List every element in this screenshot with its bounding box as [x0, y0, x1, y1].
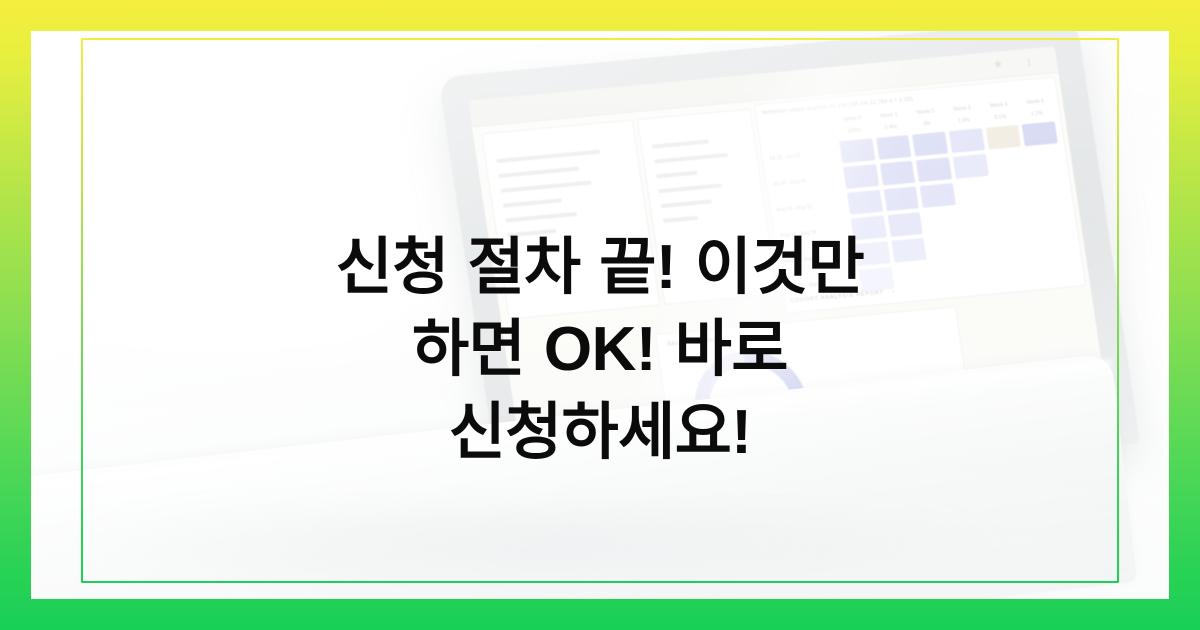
cohort-heatmap-cell	[1005, 253, 1041, 278]
cohort-heatmap-cell	[883, 186, 919, 211]
cohort-column-percent: 3%	[911, 120, 944, 129]
cohort-column-percent: 1.2%	[1020, 110, 1053, 119]
dashboard-panel-middle	[637, 109, 778, 305]
cohort-heatmap-cell	[851, 216, 887, 241]
cohort-analysis-panel: Retention cohort analysis 12,104 108.1% …	[754, 76, 1087, 314]
cohort-column-header: Week 5	[1019, 98, 1052, 107]
cohort-heatmap-cell	[960, 205, 996, 230]
cohort-heatmap-cell	[843, 164, 879, 189]
dashboard-panel-left	[481, 119, 660, 319]
cohort-heatmap-cell	[895, 264, 931, 289]
cohort-heatmap-cell	[1034, 199, 1070, 224]
placeholder-row	[498, 167, 579, 178]
cohort-column-header: Week 3	[945, 104, 978, 113]
cohort-column-header: Week 2	[909, 108, 942, 117]
star-icon	[993, 59, 1003, 69]
cohort-heatmap-cell	[997, 202, 1033, 227]
placeholder-row	[660, 199, 711, 208]
cohort-column-percent: 100%	[837, 127, 870, 136]
cohort-heatmap-cell	[855, 241, 891, 266]
cohort-heatmap-cell	[964, 231, 1000, 256]
cohort-heatmap-cell	[839, 138, 875, 163]
cohort-heatmap-cell	[876, 135, 912, 160]
cohort-heatmap-cell	[847, 190, 883, 215]
cohort-column-percent: 0.1%	[984, 113, 1017, 122]
cohort-heatmap-cell	[912, 132, 948, 157]
promo-banner: Retention cohort analysis 12,104 108.1% …	[0, 0, 1200, 630]
cohort-heatmap-cell	[968, 257, 1004, 282]
placeholder-row	[658, 183, 723, 193]
panel-middle-rows	[652, 136, 757, 234]
cohort-heatmap-cell	[880, 161, 916, 186]
placeholder-row	[652, 140, 709, 149]
laptop-shadow	[31, 509, 1091, 599]
cohort-heatmap-cell	[957, 180, 993, 205]
panel-left-rows	[496, 147, 639, 248]
cohort-heatmap-cell	[1041, 250, 1077, 275]
cohort-heatmap-cell	[1037, 224, 1073, 249]
placeholder-row	[500, 180, 591, 192]
cohort-heatmap-cell	[1022, 121, 1058, 146]
cohort-heatmap-cell	[916, 157, 952, 182]
cohort-heatmap-cell	[858, 267, 894, 292]
cohort-heatmap-grid	[839, 121, 1077, 291]
placeholder-row	[656, 171, 698, 179]
cohort-heatmap-cell	[891, 238, 927, 263]
donut-panel-title: Sessions by device	[667, 336, 726, 347]
cohort-column-header: Week 1	[872, 111, 905, 120]
cohort-heatmap-cell	[985, 125, 1021, 150]
placeholder-row	[507, 229, 557, 238]
cohort-column-header: Week 4	[982, 101, 1015, 110]
cohort-column-percent: 3.4%	[874, 123, 907, 132]
cohort-heatmap-cell	[887, 212, 923, 237]
cohort-heatmap-cell	[949, 128, 985, 153]
cohort-column-percent: 1.6%	[947, 116, 980, 125]
cohort-column-header: Week 0	[836, 115, 869, 124]
cohort-heatmap-cell	[1026, 147, 1062, 172]
placeholder-row	[505, 212, 577, 223]
cohort-heatmap-cell	[920, 183, 956, 208]
arrow-right-icon: ›	[892, 289, 896, 295]
background-photo: Retention cohort analysis 12,104 108.1% …	[31, 31, 1169, 599]
banner-stage: Retention cohort analysis 12,104 108.1% …	[31, 31, 1169, 599]
cohort-heatmap-cell	[928, 234, 964, 259]
cohort-heatmap-cell	[953, 154, 989, 179]
cohort-heatmap-cell	[924, 209, 960, 234]
kebab-menu-icon	[1027, 58, 1031, 67]
placeholder-row	[496, 150, 600, 164]
placeholder-row	[663, 216, 698, 223]
cohort-heatmap-cell	[1030, 173, 1066, 198]
cohort-heatmap-cell	[932, 260, 968, 285]
cohort-heatmap-cell	[1001, 228, 1037, 253]
cohort-heatmap-cell	[993, 176, 1029, 201]
cohort-heatmap-cell	[989, 151, 1025, 176]
placeholder-row	[654, 153, 728, 164]
placeholder-row	[503, 198, 562, 207]
